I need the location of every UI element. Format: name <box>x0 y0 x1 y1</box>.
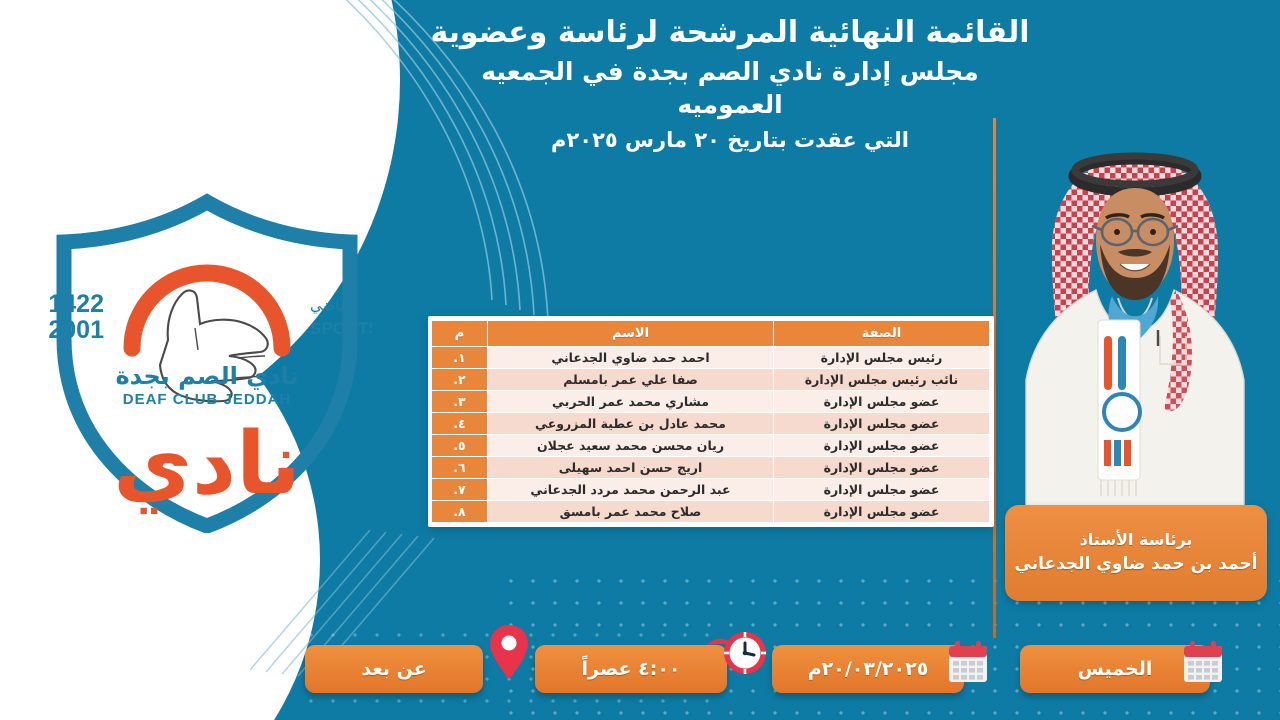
cell-name: عبد الرحمن محمد مردد الجدعاني <box>488 479 774 501</box>
cell-num: ٦. <box>432 457 488 479</box>
table-header-row: الصفة الاسم م <box>432 321 990 347</box>
chairman-caption: برئاسة الأستاذ أحمد بن حمد ضاوي الجدعاني <box>1005 505 1267 601</box>
cell-role: عضو مجلس الإدارة <box>774 391 990 413</box>
cell-name: اريج حسن احمد سهيلى <box>488 457 774 479</box>
poster-canvas: القائمة النهائية المرشحة لرئاسة وعضوية م… <box>0 0 1280 720</box>
cell-num: ٥. <box>432 435 488 457</box>
table-row: نائب رئيس مجلس الإدارة صفا علي عمر بامسل… <box>432 369 990 391</box>
table-row: رئيس مجلس الإدارة احمد حمد ضاوي الجدعاني… <box>432 347 990 369</box>
title-line-2: مجلس إدارة نادي الصم بجدة في الجمعيه الع… <box>430 56 1030 121</box>
table-row: عضو مجلس الإدارة مشاري محمد عمر الحربي ٣… <box>432 391 990 413</box>
logo-year-gregorian: 2001 <box>48 316 104 344</box>
badge-time[interactable]: ٤:٠٠ عصراً <box>535 645 727 693</box>
table-row: عضو مجلس الإدارة صلاح محمد عمر بامسق ٨. <box>432 501 990 523</box>
badge-day-label: الخميس <box>1078 658 1153 680</box>
caption-line-1: برئاسة الأستاذ <box>1080 528 1193 552</box>
table-row: عضو مجلس الإدارة محمد عادل بن عطية المزر… <box>432 413 990 435</box>
chairman-photo <box>1000 140 1270 512</box>
header-role: الصفة <box>774 321 990 347</box>
roster-table: الصفة الاسم م رئيس مجلس الإدارة احمد حمد… <box>431 320 990 523</box>
calendar-icon <box>947 640 989 684</box>
poster-title: القائمة النهائية المرشحة لرئاسة وعضوية م… <box>430 14 1030 155</box>
table-body: رئيس مجلس الإدارة احمد حمد ضاوي الجدعاني… <box>432 347 990 523</box>
eye-left <box>1114 229 1120 235</box>
badge-date-label: ٢٠/٠٣/٢٠٢٥م <box>808 658 929 680</box>
cell-num: ٣. <box>432 391 488 413</box>
location-pin-icon <box>488 623 530 681</box>
cell-role: رئيس مجلس الإدارة <box>774 347 990 369</box>
badge-remote[interactable]: عن بعد <box>305 645 483 693</box>
cell-num: ٢. <box>432 369 488 391</box>
cell-role: عضو مجلس الإدارة <box>774 479 990 501</box>
logo-sports-en: SPORTS <box>310 319 372 338</box>
logo-name-en: DEAF CLUB JEDDAH <box>123 391 292 408</box>
badge-time-label: ٤:٠٠ عصراً <box>581 658 680 680</box>
alarm-clock-icon <box>705 625 767 681</box>
cell-role: نائب رئيس مجلس الإدارة <box>774 369 990 391</box>
roster-table-frame: الصفة الاسم م رئيس مجلس الإدارة احمد حمد… <box>428 316 994 527</box>
cell-num: ٧. <box>432 479 488 501</box>
table-row: عضو مجلس الإدارة اريج حسن احمد سهيلى ٦. <box>432 457 990 479</box>
calendar-icon <box>1182 640 1224 684</box>
face <box>1092 188 1178 300</box>
table-row: عضو مجلس الإدارة عبد الرحمن محمد مردد ال… <box>432 479 990 501</box>
club-logo: 1422 2001 رياضي SPORTS نادي الصم بجدة DE… <box>42 188 372 533</box>
title-line-1: القائمة النهائية المرشحة لرئاسة وعضوية <box>430 14 1030 52</box>
eye-right <box>1150 229 1156 235</box>
logo-monogram: نادي <box>113 414 301 514</box>
cell-name: مشاري محمد عمر الحربي <box>488 391 774 413</box>
caption-line-2: أحمد بن حمد ضاوي الجدعاني <box>1015 552 1258 578</box>
logo-year-hijri: 1422 <box>48 290 104 318</box>
cell-name: محمد عادل بن عطية المزروعي <box>488 413 774 435</box>
badge-date[interactable]: ٢٠/٠٣/٢٠٢٥م <box>772 645 964 693</box>
club-scarf <box>1098 320 1140 496</box>
cell-num: ١. <box>432 347 488 369</box>
logo-name-ar: نادي الصم بجدة <box>115 362 298 390</box>
title-line-3: التي عقدت بتاريخ ٢٠ مارس ٢٠٢٥م <box>430 127 1030 154</box>
cell-num: ٨. <box>432 501 488 523</box>
cell-role: عضو مجلس الإدارة <box>774 435 990 457</box>
cell-role: عضو مجلس الإدارة <box>774 501 990 523</box>
cell-name: صلاح محمد عمر بامسق <box>488 501 774 523</box>
header-num: م <box>432 321 488 347</box>
logo-sports-ar: رياضي <box>310 296 351 315</box>
table-row: عضو مجلس الإدارة ريان محسن محمد سعيد عجل… <box>432 435 990 457</box>
badge-remote-label: عن بعد <box>361 658 427 680</box>
cell-name: احمد حمد ضاوي الجدعاني <box>488 347 774 369</box>
cell-name: ريان محسن محمد سعيد عجلان <box>488 435 774 457</box>
cell-num: ٤. <box>432 413 488 435</box>
cell-name: صفا علي عمر بامسلم <box>488 369 774 391</box>
header-name: الاسم <box>488 321 774 347</box>
cell-role: عضو مجلس الإدارة <box>774 457 990 479</box>
cell-role: عضو مجلس الإدارة <box>774 413 990 435</box>
